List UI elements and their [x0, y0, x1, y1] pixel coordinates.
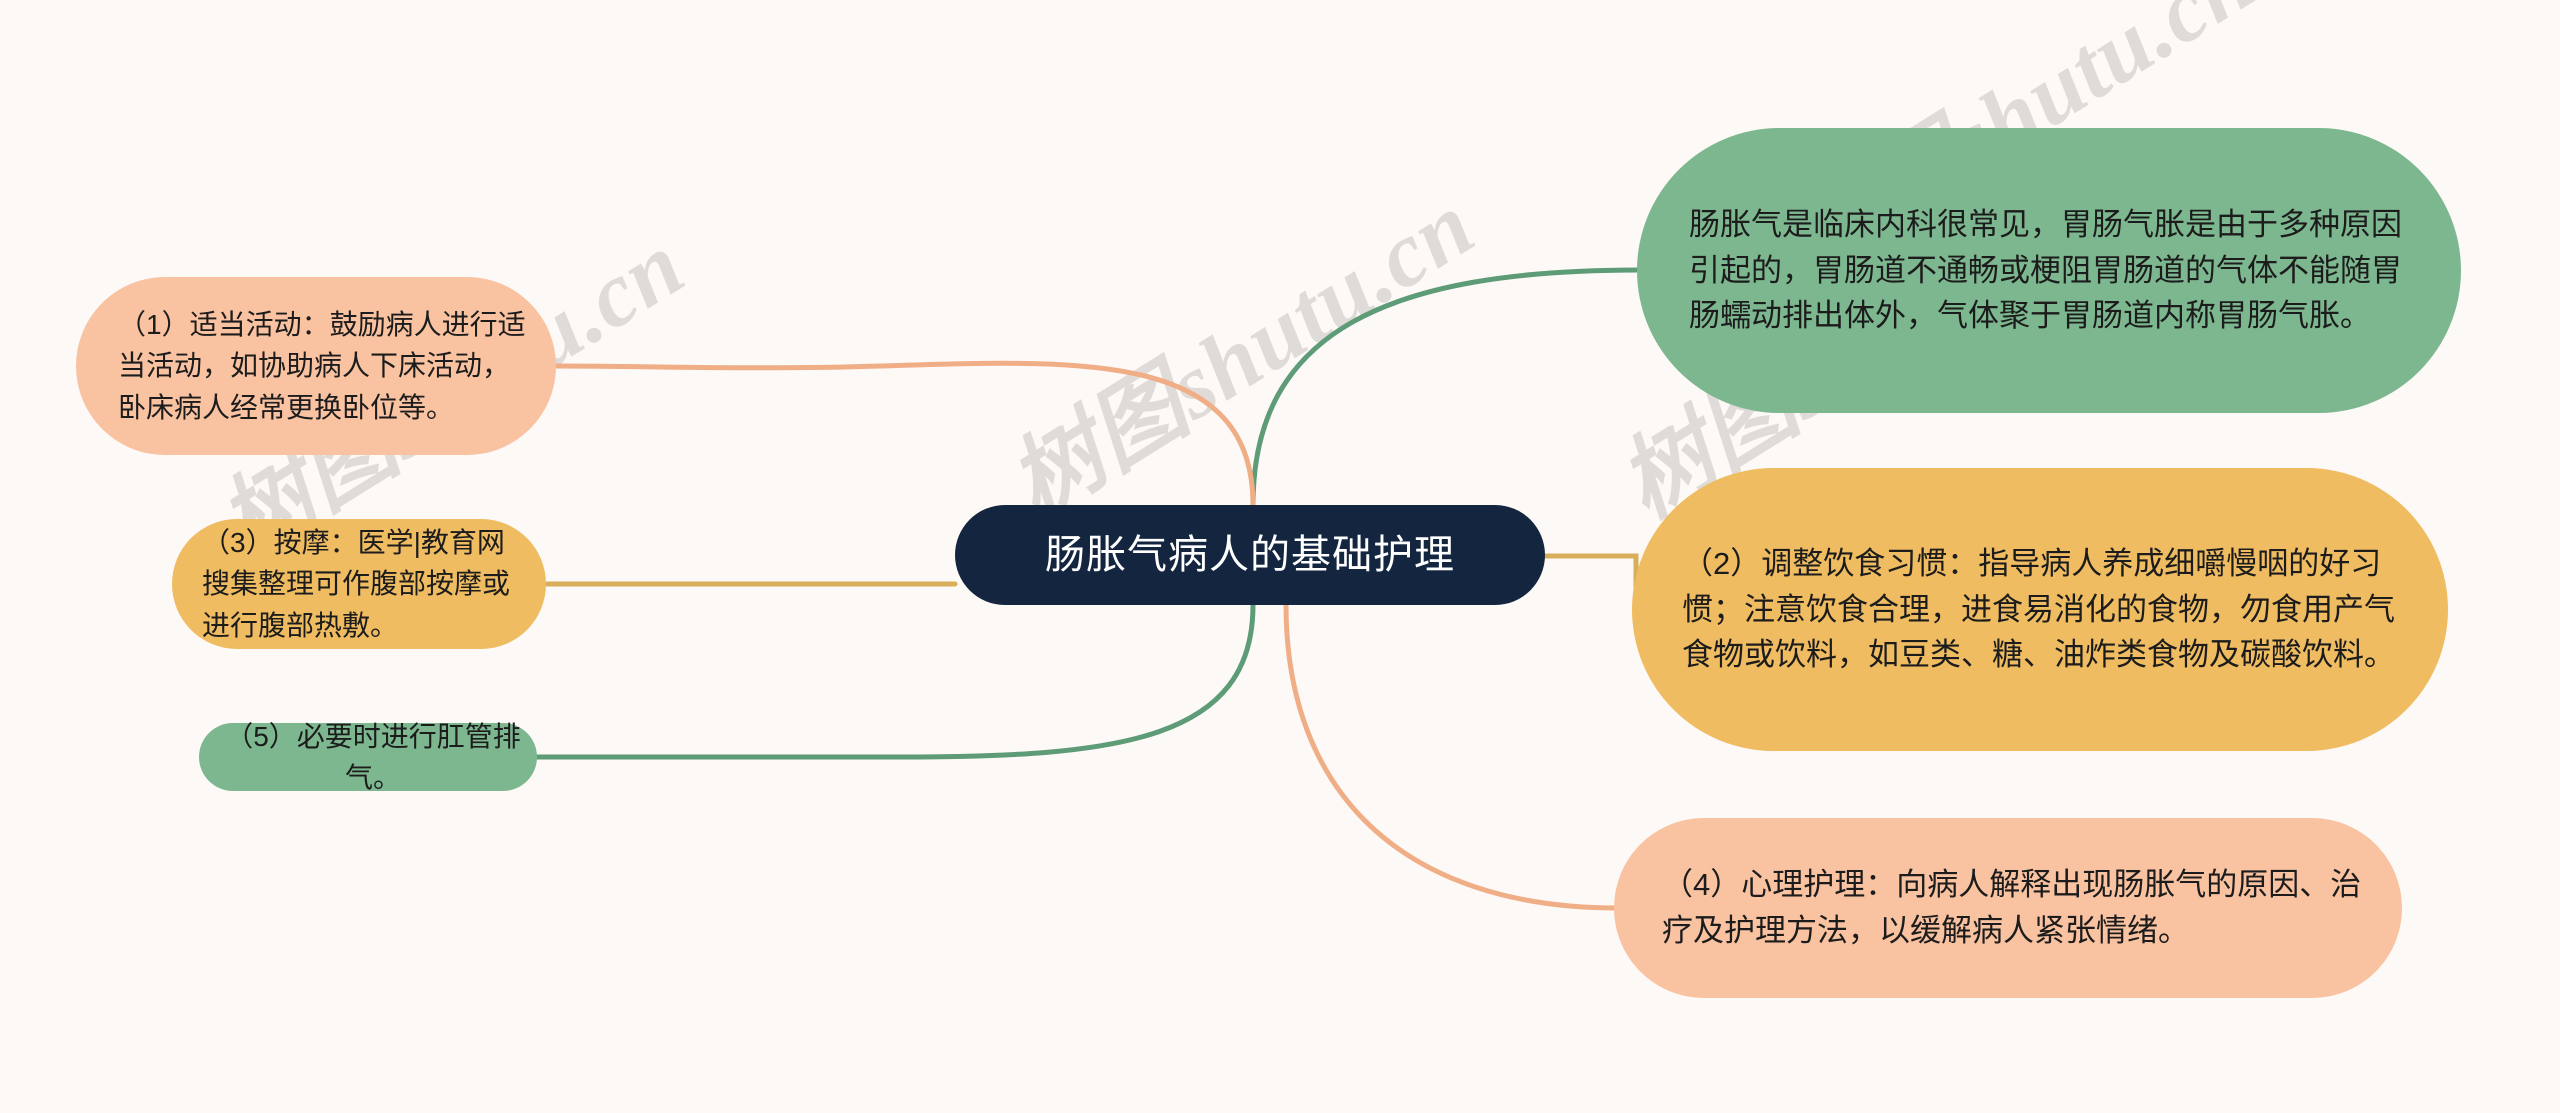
branch-node-green-top-text: 肠胀气是临床内科很常见，胃肠气胀是由于多种原因引起的，胃肠道不通畅或梗阻胃肠道的…: [1689, 202, 2415, 339]
connector-green-left: [537, 605, 1253, 757]
central-node[interactable]: 肠胀气病人的基础护理: [955, 505, 1545, 605]
connector-orange-right: [1545, 556, 1636, 610]
branch-node-peach-right[interactable]: （4）心理护理：向病人解释出现肠胀气的原因、治疗及护理方法，以缓解病人紧张情绪。: [1614, 818, 2402, 998]
branch-node-green-left[interactable]: （5）必要时进行肛管排气。: [199, 723, 537, 791]
branch-node-orange-left[interactable]: （3）按摩：医学|教育网搜集整理可作腹部按摩或进行腹部热敷。: [172, 519, 546, 649]
branch-node-orange-left-text: （3）按摩：医学|教育网搜集整理可作腹部按摩或进行腹部热敷。: [202, 522, 528, 645]
branch-node-green-left-text: （5）必要时进行肛管排气。: [225, 716, 521, 798]
connector-peach-right: [1286, 605, 1618, 908]
branch-node-orange-right-text: （2）调整饮食习惯：指导病人养成细嚼慢咽的好习惯；注意饮食合理，进食易消化的食物…: [1682, 541, 2408, 678]
branch-node-green-top[interactable]: 肠胀气是临床内科很常见，胃肠气胀是由于多种原因引起的，胃肠道不通畅或梗阻胃肠道的…: [1637, 128, 2461, 413]
branch-node-peach-left-text: （1）适当活动：鼓励病人进行适当活动，如协助病人下床活动，卧床病人经常更换卧位等…: [118, 304, 528, 427]
branch-node-peach-left[interactable]: （1）适当活动：鼓励病人进行适当活动，如协助病人下床活动，卧床病人经常更换卧位等…: [76, 277, 556, 455]
connector-green-top: [1253, 270, 1640, 505]
central-node-title: 肠胀气病人的基础护理: [955, 526, 1545, 585]
connector-peach-left: [556, 363, 1253, 505]
branch-node-orange-right[interactable]: （2）调整饮食习惯：指导病人养成细嚼慢咽的好习惯；注意饮食合理，进食易消化的食物…: [1632, 468, 2448, 751]
branch-node-peach-right-text: （4）心理护理：向病人解释出现肠胀气的原因、治疗及护理方法，以缓解病人紧张情绪。: [1662, 862, 2362, 953]
mindmap-canvas: 树图shutu.cn树图shutu.cn树图shutu.cn树图shutu.cn…: [0, 0, 2560, 1113]
